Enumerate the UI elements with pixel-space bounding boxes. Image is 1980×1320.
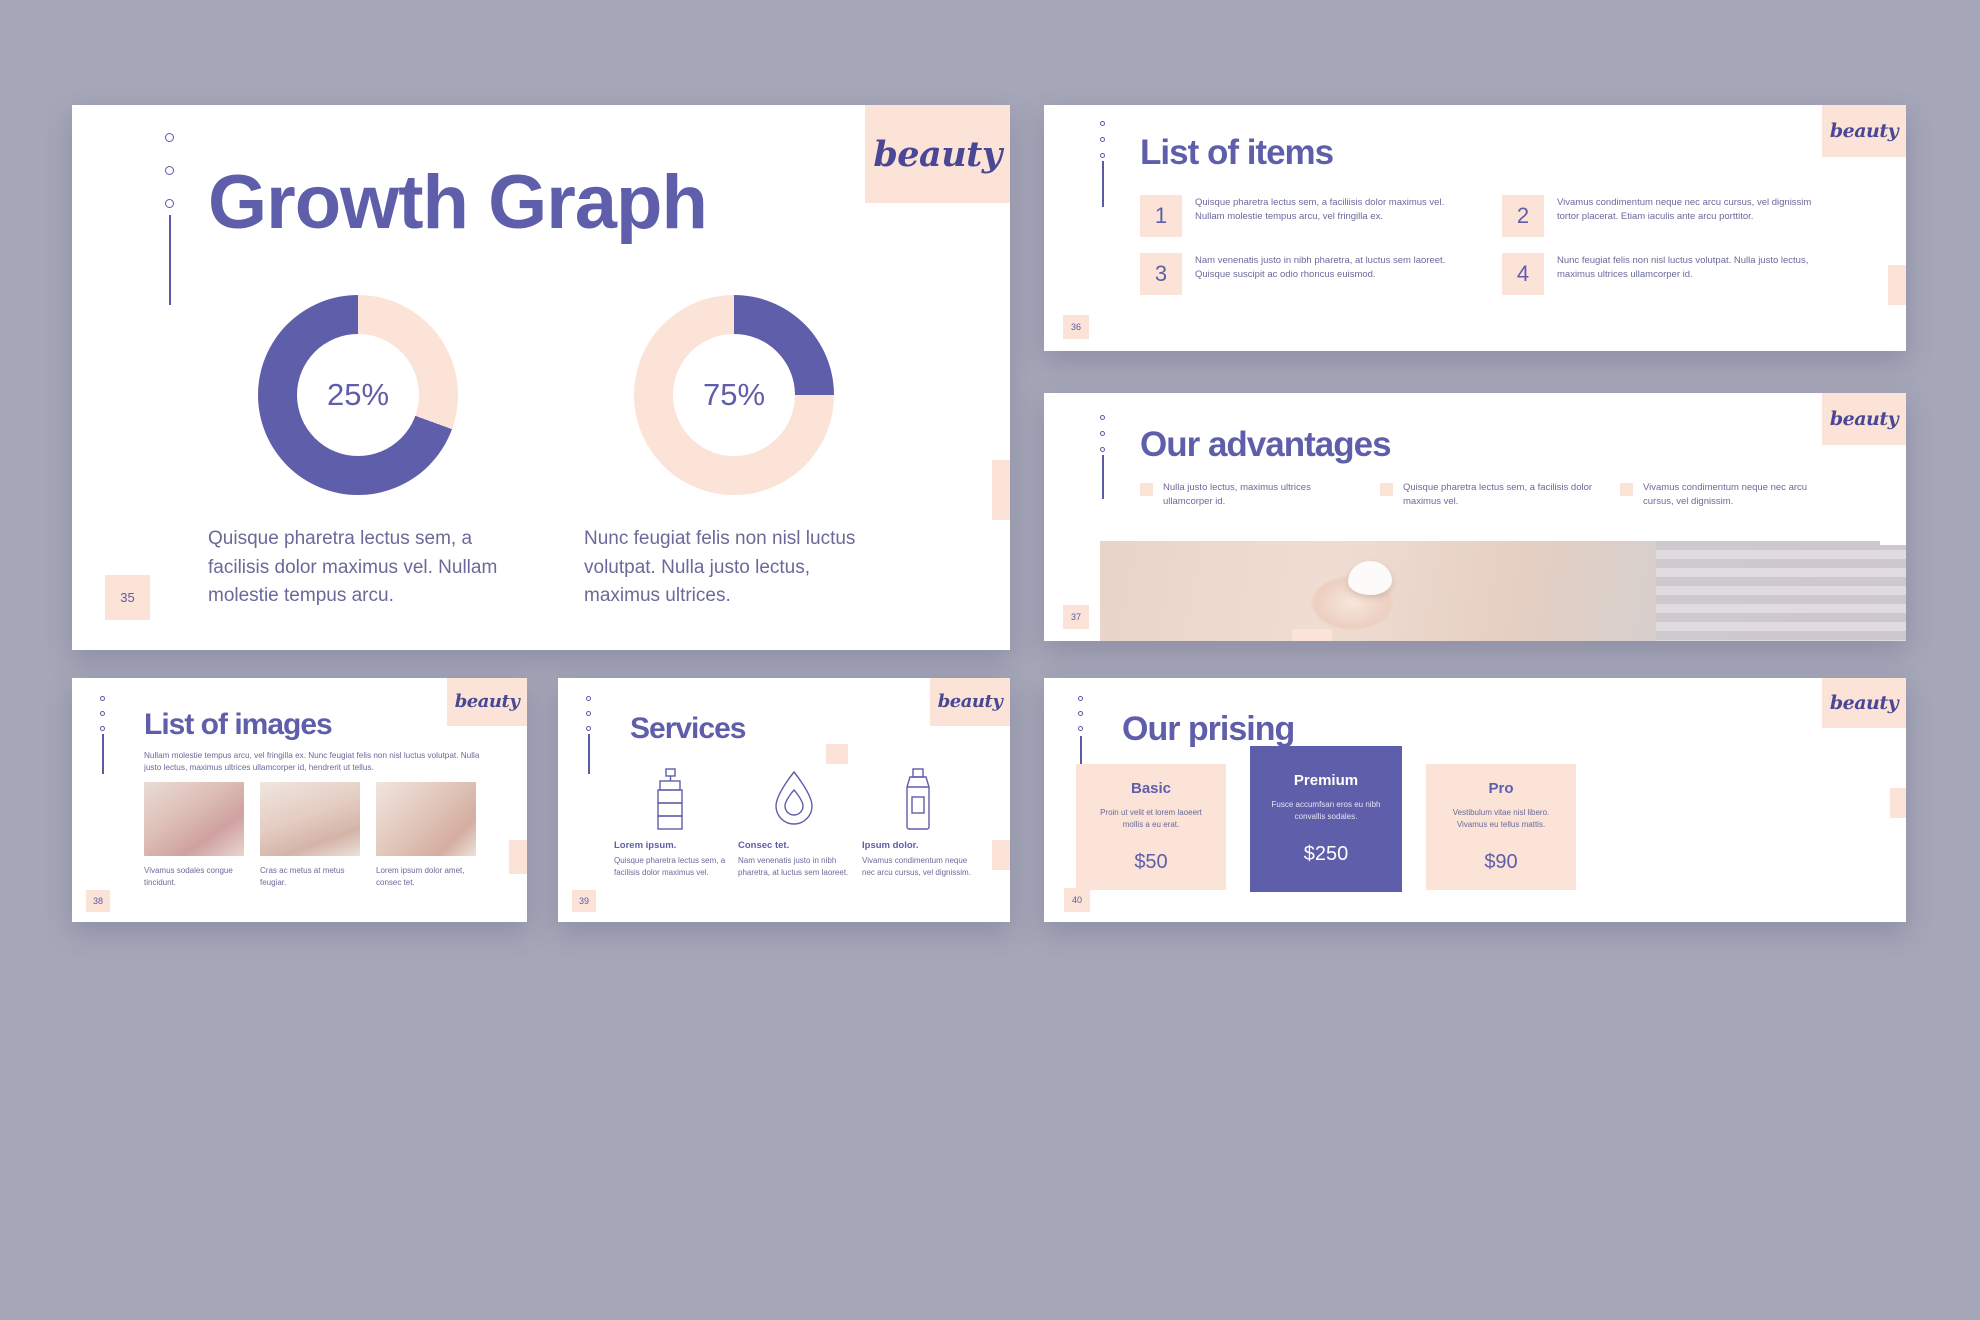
page-title: Our advantages: [1140, 425, 1391, 465]
brand-logo-text: beauty: [455, 693, 520, 711]
gallery-caption: Cras ac metus at metus feugiar.: [260, 865, 360, 889]
plan-description: Fusce accumfsan eros eu nibh convallis s…: [1264, 799, 1388, 835]
slide-services[interactable]: beauty Services Lorem ipsum. Quisque pha…: [558, 678, 1010, 922]
item-number: 4: [1502, 253, 1544, 295]
decorative-peach-block: [509, 840, 527, 874]
dot-icon: [100, 696, 105, 701]
cream-dollop: [1348, 561, 1392, 595]
page-title: Services: [630, 712, 745, 746]
dot-icon: [1078, 711, 1083, 716]
plan-description: Proin ut velit et lorem laoeert mollis a…: [1090, 807, 1212, 843]
list-item: 1 Quisque pharetra lectus sem, a facilii…: [1140, 195, 1468, 237]
advantage-text: Quisque pharetra lectus sem, a facilisis…: [1403, 481, 1596, 509]
bullet-square-icon: [1140, 483, 1153, 496]
brand-logo: beauty: [1822, 678, 1906, 728]
dot-icon: [1078, 726, 1083, 731]
brand-logo-text: beauty: [873, 137, 1001, 172]
plan-name: Basic: [1090, 780, 1212, 797]
plan-name: Pro: [1440, 780, 1562, 797]
photo-blind-stripes: [1656, 541, 1906, 641]
page-number: 38: [86, 890, 110, 912]
brand-logo: beauty: [865, 105, 1010, 203]
decorative-dots: [1100, 121, 1105, 158]
page-number: 36: [1063, 315, 1089, 339]
brand-logo: beauty: [447, 678, 527, 726]
chart-caption: Nunc feugiat felis non nisl luctus volut…: [584, 525, 884, 611]
decorative-dots: [100, 696, 105, 731]
donut-chart-75: 75%: [634, 295, 834, 495]
decorative-vertical-line: [1102, 161, 1104, 207]
decorative-peach-block: [1292, 629, 1332, 641]
gallery-item[interactable]: Cras ac metus at metus feugiar.: [260, 782, 360, 889]
pricing-card-basic[interactable]: Basic Proin ut velit et lorem laoeert mo…: [1076, 764, 1226, 890]
chart-block-1: 25% Quisque pharetra lectus sem, a facil…: [208, 295, 508, 611]
plan-price: $50: [1090, 851, 1212, 874]
plan-description: Vestibulum vitae nisl libero. Vivamus eu…: [1440, 807, 1562, 843]
growth-charts: 25% Quisque pharetra lectus sem, a facil…: [208, 295, 908, 611]
gallery-caption: Lorem ipsum dolor amet, consec tet.: [376, 865, 476, 889]
dot-icon: [586, 726, 591, 731]
decorative-peach-block: [826, 744, 848, 764]
decorative-dots: [1078, 696, 1083, 731]
decorative-vertical-line: [169, 215, 171, 305]
decorative-vertical-line: [102, 734, 104, 774]
page-title: Our prising: [1122, 710, 1294, 749]
advantages-row: Nulla justo lectus, maximus ultrices ull…: [1140, 481, 1840, 509]
item-text: Vivamus condimentum neque nec arcu cursu…: [1557, 195, 1830, 237]
bullet-square-icon: [1380, 483, 1393, 496]
water-drop-icon: [738, 762, 850, 836]
cream-tube-icon: [862, 762, 974, 836]
page-number: 40: [1064, 888, 1090, 912]
pricing-card-pro[interactable]: Pro Vestibulum vitae nisl libero. Vivamu…: [1426, 764, 1576, 890]
brand-logo-text: beauty: [1830, 694, 1898, 713]
service-text: Vivamus condimentum neque nec arcu cursu…: [862, 855, 974, 879]
decorative-dots: [165, 133, 174, 208]
chart-caption: Quisque pharetra lectus sem, a facilisis…: [208, 525, 508, 611]
brand-logo: beauty: [1822, 105, 1906, 157]
decorative-white-block: [1880, 523, 1906, 545]
decorative-vertical-line: [1102, 455, 1104, 499]
service-item: Lorem ipsum. Quisque pharetra lectus sem…: [614, 762, 726, 879]
dot-icon: [1100, 415, 1105, 420]
service-title: Consec tet.: [738, 840, 850, 851]
slide-list-of-items[interactable]: beauty List of items 1 Quisque pharetra …: [1044, 105, 1906, 351]
pricing-row: Basic Proin ut velit et lorem laoeert mo…: [1076, 764, 1876, 892]
advantage-text: Nulla justo lectus, maximus ultrices ull…: [1163, 481, 1356, 509]
dot-icon: [100, 726, 105, 731]
service-text: Nam venenatis justo in nibh pharetra, at…: [738, 855, 850, 879]
skincare-photo: [1100, 541, 1906, 641]
donut-value-label: 25%: [327, 377, 389, 413]
intro-paragraph: Nullam molestie tempus arcu, vel fringil…: [144, 750, 484, 775]
dot-icon: [1100, 431, 1105, 436]
decorative-peach-block: [1890, 788, 1906, 818]
bullet-square-icon: [1620, 483, 1633, 496]
service-item: Ipsum dolor. Vivamus condimentum neque n…: [862, 762, 974, 879]
item-number: 3: [1140, 253, 1182, 295]
slide-our-advantages[interactable]: beauty Our advantages Nulla justo lectus…: [1044, 393, 1906, 641]
decorative-peach-block: [992, 840, 1010, 870]
services-row: Lorem ipsum. Quisque pharetra lectus sem…: [614, 762, 974, 879]
item-text: Nam venenatis justo in nibh pharetra, at…: [1195, 253, 1468, 295]
decorative-dots: [1100, 415, 1105, 452]
item-number: 2: [1502, 195, 1544, 237]
advantage-item: Nulla justo lectus, maximus ultrices ull…: [1140, 481, 1356, 509]
dot-icon: [165, 199, 174, 208]
item-text: Nunc feugiat felis non nisl luctus volut…: [1557, 253, 1830, 295]
dot-icon: [586, 711, 591, 716]
page-number: 35: [105, 575, 150, 620]
page-title: List of items: [1140, 133, 1333, 173]
service-item: Consec tet. Nam venenatis justo in nibh …: [738, 762, 850, 879]
item-number: 1: [1140, 195, 1182, 237]
dot-icon: [100, 711, 105, 716]
dot-icon: [165, 166, 174, 175]
dot-icon: [1100, 137, 1105, 142]
dot-icon: [1100, 153, 1105, 158]
page-number: 39: [572, 890, 596, 912]
brand-logo-text: beauty: [1830, 410, 1898, 429]
dot-icon: [1100, 121, 1105, 126]
items-grid: 1 Quisque pharetra lectus sem, a facilii…: [1140, 195, 1830, 295]
advantage-item: Vivamus condimentum neque nec arcu cursu…: [1620, 481, 1836, 509]
gallery-thumbnail[interactable]: [376, 782, 476, 856]
page-title: List of images: [144, 708, 332, 742]
gallery-item[interactable]: Lorem ipsum dolor amet, consec tet.: [376, 782, 476, 889]
list-item: 3 Nam venenatis justo in nibh pharetra, …: [1140, 253, 1468, 295]
service-title: Lorem ipsum.: [614, 840, 726, 851]
brand-logo-text: beauty: [1830, 122, 1898, 141]
gallery-item[interactable]: Vivamus sodales congue tincidunt.: [144, 782, 244, 889]
decorative-peach-block: [992, 460, 1010, 520]
plan-price: $250: [1264, 843, 1388, 866]
advantage-item: Quisque pharetra lectus sem, a facilisis…: [1380, 481, 1596, 509]
decorative-dots: [586, 696, 591, 731]
service-title: Ipsum dolor.: [862, 840, 974, 851]
pump-bottle-icon: [614, 762, 726, 836]
decorative-peach-block: [1888, 265, 1906, 305]
image-gallery: Vivamus sodales congue tincidunt. Cras a…: [144, 782, 476, 889]
list-item: 2 Vivamus condimentum neque nec arcu cur…: [1502, 195, 1830, 237]
plan-price: $90: [1440, 851, 1562, 874]
gallery-thumbnail[interactable]: [144, 782, 244, 856]
item-text: Quisque pharetra lectus sem, a faciliisi…: [1195, 195, 1468, 237]
slide-growth-graph[interactable]: beauty Growth Graph 25% Quisque pharetra…: [72, 105, 1010, 650]
brand-logo: beauty: [930, 678, 1010, 726]
dot-icon: [1078, 696, 1083, 701]
dot-icon: [1100, 447, 1105, 452]
donut-chart-25: 25%: [258, 295, 458, 495]
gallery-thumbnail[interactable]: [260, 782, 360, 856]
page-title: Growth Graph: [208, 159, 707, 246]
plan-name: Premium: [1264, 772, 1388, 789]
page-number: 37: [1063, 605, 1089, 629]
pricing-card-premium[interactable]: Premium Fusce accumfsan eros eu nibh con…: [1250, 746, 1402, 892]
list-item: 4 Nunc feugiat felis non nisl luctus vol…: [1502, 253, 1830, 295]
gallery-caption: Vivamus sodales congue tincidunt.: [144, 865, 244, 889]
donut-center: 25%: [297, 334, 419, 456]
donut-value-label: 75%: [703, 377, 765, 413]
dot-icon: [165, 133, 174, 142]
advantage-text: Vivamus condimentum neque nec arcu cursu…: [1643, 481, 1836, 509]
donut-center: 75%: [673, 334, 795, 456]
brand-logo-text: beauty: [938, 693, 1003, 711]
brand-logo: beauty: [1822, 393, 1906, 445]
slide-our-pricing[interactable]: beauty Our prising Basic Proin ut velit …: [1044, 678, 1906, 922]
chart-block-2: 75% Nunc feugiat felis non nisl luctus v…: [584, 295, 884, 611]
slide-list-of-images[interactable]: beauty List of images Nullam molestie te…: [72, 678, 527, 922]
service-text: Quisque pharetra lectus sem, a facilisis…: [614, 855, 726, 879]
dot-icon: [586, 696, 591, 701]
decorative-vertical-line: [588, 734, 590, 774]
